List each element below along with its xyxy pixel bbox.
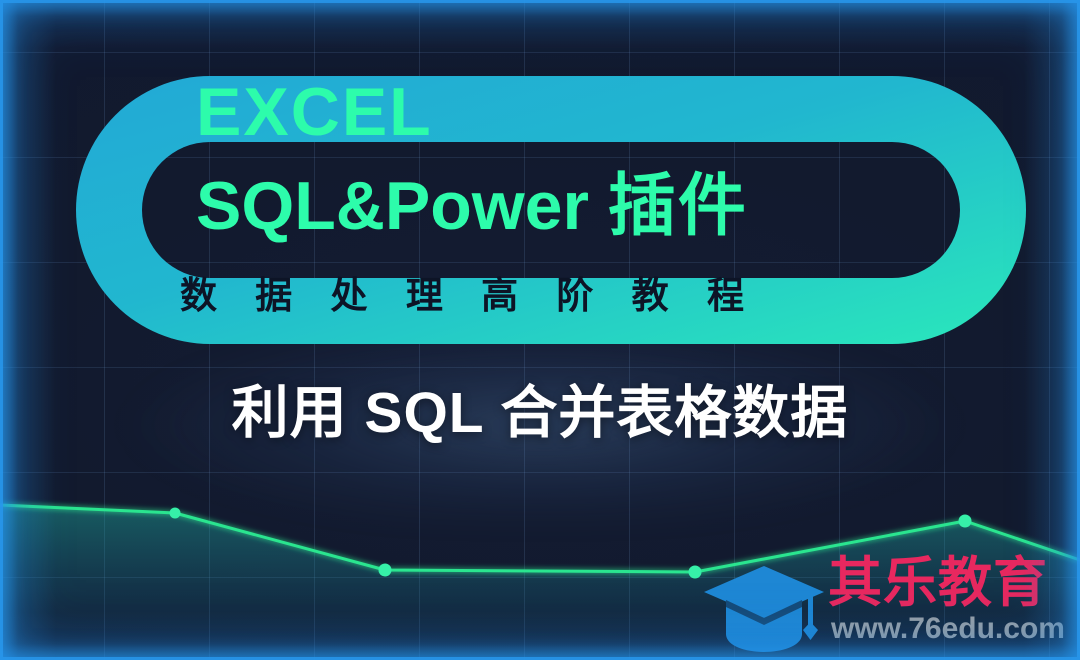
chart-point (959, 515, 972, 528)
headline-part3: 合并表格数据 (500, 381, 848, 445)
brand-website: www.76edu.com (831, 614, 1065, 644)
headline-part1: 利用 (232, 381, 348, 445)
title-sql-power: SQL&Power 插件 (196, 172, 748, 240)
chart-point (379, 564, 392, 577)
chart-point (170, 508, 181, 519)
poster-canvas: EXCEL SQL&Power 插件 数 据 处 理 高 阶 教 程 利用 SQ… (0, 0, 1080, 660)
title-excel: EXCEL (196, 78, 433, 146)
brand-logo[interactable]: 其乐教育 www.76edu.com (700, 556, 1080, 660)
pill-band-label: 数 据 处 理 高 阶 教 程 (180, 277, 920, 314)
brand-name: 其乐教育 (828, 556, 1048, 610)
headline-part2: SQL (364, 381, 483, 445)
page-headline: 利用 SQL 合并表格数据 (0, 385, 1080, 442)
graduation-cap-icon (700, 560, 828, 656)
title-sql-cn: 插件 (608, 168, 748, 244)
title-sql-latin: SQL&Power (196, 168, 589, 244)
